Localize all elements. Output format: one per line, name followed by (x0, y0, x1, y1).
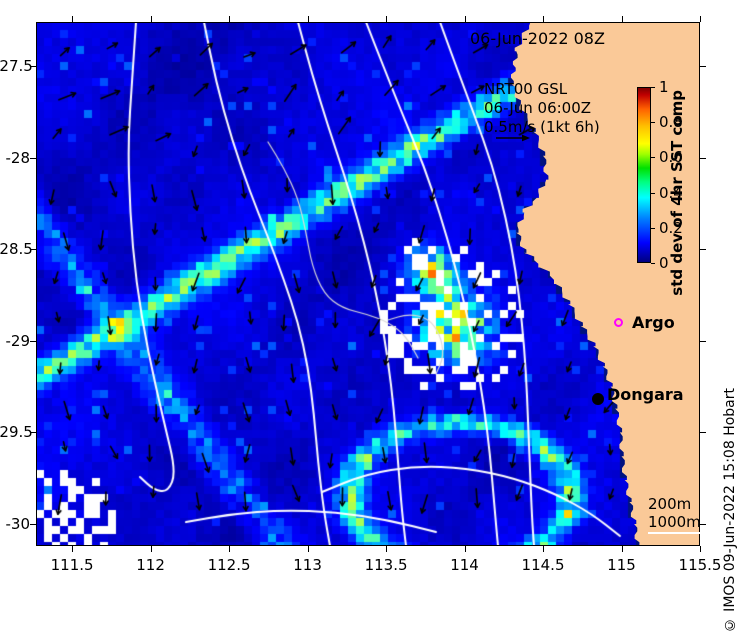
x-tick-label: 114.5 (522, 556, 565, 574)
x-tick (386, 546, 387, 552)
y-tick-right (700, 524, 706, 525)
colorbar-tick (651, 122, 655, 123)
model-name-label: NRT00 GSL (484, 80, 600, 99)
x-tick-top (622, 16, 623, 22)
colorbar-tick (651, 87, 655, 88)
argo-marker-icon (614, 318, 623, 327)
y-tick (30, 158, 36, 159)
depth-deep-label: 1000m (648, 513, 701, 531)
x-tick (229, 546, 230, 552)
colorbar-tick (651, 193, 655, 194)
y-tick-right (700, 158, 706, 159)
x-tick-label: 112 (136, 556, 165, 574)
model-annotation-block: NRT00 GSL 06-Jun 06:00Z 0.5m/s (1kt 6h) (484, 80, 600, 137)
y-tick (30, 341, 36, 342)
y-tick-label: -29.5 (0, 423, 30, 441)
colorbar-tick (651, 228, 655, 229)
x-tick-label: 114 (450, 556, 479, 574)
datestamp-label: 06-Jun-2022 08Z (470, 29, 605, 48)
x-tick-top (229, 16, 230, 22)
x-tick (622, 546, 623, 552)
x-tick-top (151, 16, 152, 22)
x-tick (308, 546, 309, 552)
y-tick-right (700, 249, 706, 250)
x-tick-top (386, 16, 387, 22)
map-plot-area (36, 22, 700, 546)
y-tick-right (700, 66, 706, 67)
x-tick-label: 111.5 (51, 556, 94, 574)
depth-legend-rule (648, 532, 702, 534)
y-tick-label: -27.5 (0, 57, 30, 75)
model-time-label: 06-Jun 06:00Z (484, 99, 600, 118)
x-tick-top (308, 16, 309, 22)
x-tick-top (543, 16, 544, 22)
colorbar-tick (651, 263, 655, 264)
x-tick-top (700, 16, 701, 22)
x-tick-label: 112.5 (208, 556, 251, 574)
colorbar: 00.20.40.60.81 (637, 87, 651, 263)
colorbar-title: std dev of 4hr SST comp (668, 90, 686, 296)
depth-shallow-label: 200m (648, 495, 701, 513)
depth-contour-legend: 200m 1000m (648, 495, 701, 531)
argo-legend-label: Argo (632, 313, 675, 332)
x-tick-top (465, 16, 466, 22)
x-tick-label: 115.5 (679, 556, 722, 574)
y-tick-label: -29 (0, 332, 30, 350)
velocity-reference-arrow-icon (496, 132, 530, 144)
y-tick-right (700, 341, 706, 342)
x-tick-label: 113.5 (365, 556, 408, 574)
x-tick-label: 113 (293, 556, 322, 574)
y-tick (30, 524, 36, 525)
argo-legend-entry: Argo (614, 313, 675, 332)
x-tick (151, 546, 152, 552)
x-tick-label: 115 (607, 556, 636, 574)
y-tick-label: -30 (0, 515, 30, 533)
x-tick (72, 546, 73, 552)
x-tick (465, 546, 466, 552)
y-tick-label: -28 (0, 149, 30, 167)
dongara-marker-icon (592, 393, 604, 405)
colorbar-tick (651, 157, 655, 158)
x-tick (700, 546, 701, 552)
colorbar-gradient (637, 87, 651, 263)
dongara-place-label: Dongara (607, 385, 684, 404)
y-tick-right (700, 432, 706, 433)
x-tick-top (72, 16, 73, 22)
y-tick-label: -28.5 (0, 240, 30, 258)
land-layer (36, 22, 700, 546)
credit-label: © IMOS 09-Jun-2022 15:08 Hobart (722, 388, 738, 632)
x-tick (543, 546, 544, 552)
